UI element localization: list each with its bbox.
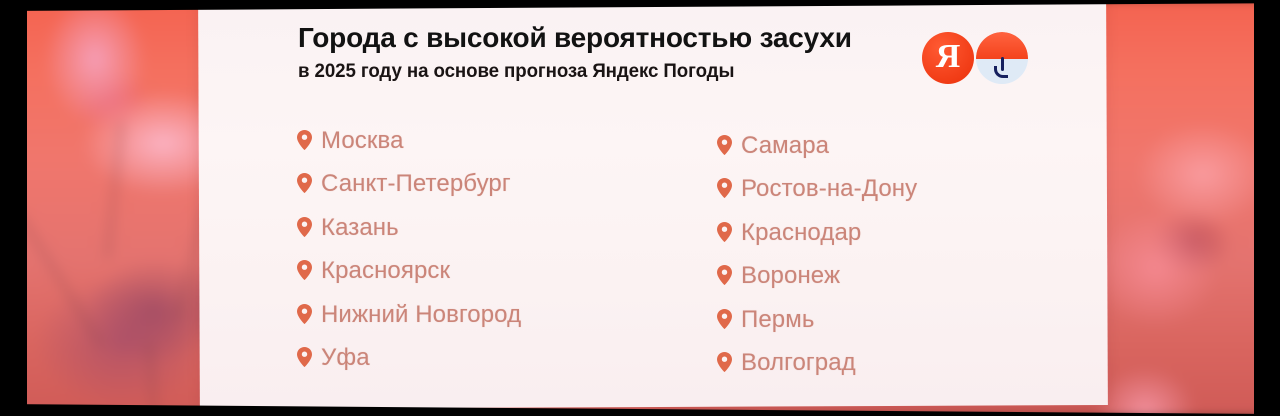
- city-list-item: Воронеж: [717, 255, 917, 299]
- map-pin-icon: [717, 222, 732, 242]
- map-pin-icon: [717, 352, 732, 372]
- city-name-label: Санкт-Петербург: [321, 170, 511, 198]
- background-stem: [106, 122, 123, 258]
- city-list-item: Нижний Новгород: [297, 293, 521, 337]
- city-list-item: Уфа: [297, 337, 521, 381]
- city-name-label: Казань: [321, 214, 399, 242]
- letterbox-bar-right: [1254, 0, 1280, 416]
- city-list-item: Пермь: [717, 298, 917, 342]
- city-name-label: Краснодар: [741, 219, 861, 247]
- city-column-right: СамараРостов-на-ДонуКраснодарВоронежПерм…: [717, 124, 917, 385]
- city-list-item: Краснодар: [717, 211, 917, 255]
- city-name-label: Самара: [741, 132, 829, 160]
- city-name-label: Москва: [321, 127, 404, 155]
- map-pin-icon: [717, 265, 732, 285]
- map-pin-icon: [297, 304, 312, 324]
- letterbox-bar-left: [0, 0, 27, 416]
- map-pin-icon: [297, 260, 312, 280]
- city-column-left: МоскваСанкт-ПетербургКазаньКрасноярскНиж…: [297, 119, 521, 380]
- city-name-label: Нижний Новгород: [321, 301, 521, 329]
- map-pin-icon: [297, 173, 312, 193]
- map-pin-icon: [297, 217, 312, 237]
- map-pin-icon: [717, 178, 732, 198]
- info-card: Города с высокой вероятностью засухи в 2…: [198, 1, 1108, 409]
- map-pin-icon: [717, 135, 732, 155]
- screenshot-stage: Города с высокой вероятностью засухи в 2…: [0, 0, 1280, 416]
- city-name-label: Ростов-на-Дону: [741, 175, 917, 203]
- city-list-item: Волгоград: [717, 342, 917, 386]
- city-name-label: Воронеж: [741, 262, 840, 290]
- map-pin-icon: [717, 309, 732, 329]
- city-list-item: Ростов-на-Дону: [717, 168, 917, 212]
- city-list-item: Санкт-Петербург: [297, 163, 521, 207]
- city-list-item: Самара: [717, 124, 917, 168]
- city-name-label: Пермь: [741, 306, 814, 334]
- city-columns: МоскваСанкт-ПетербургКазаньКрасноярскНиж…: [199, 3, 1107, 407]
- background-stem: [17, 212, 103, 347]
- city-list-item: Красноярск: [297, 250, 521, 294]
- city-list-item: Москва: [297, 119, 521, 163]
- map-pin-icon: [297, 130, 312, 150]
- city-name-label: Красноярск: [321, 257, 450, 285]
- map-pin-icon: [297, 347, 312, 367]
- city-name-label: Волгоград: [741, 349, 856, 377]
- city-list-item: Казань: [297, 206, 521, 250]
- city-name-label: Уфа: [321, 344, 370, 372]
